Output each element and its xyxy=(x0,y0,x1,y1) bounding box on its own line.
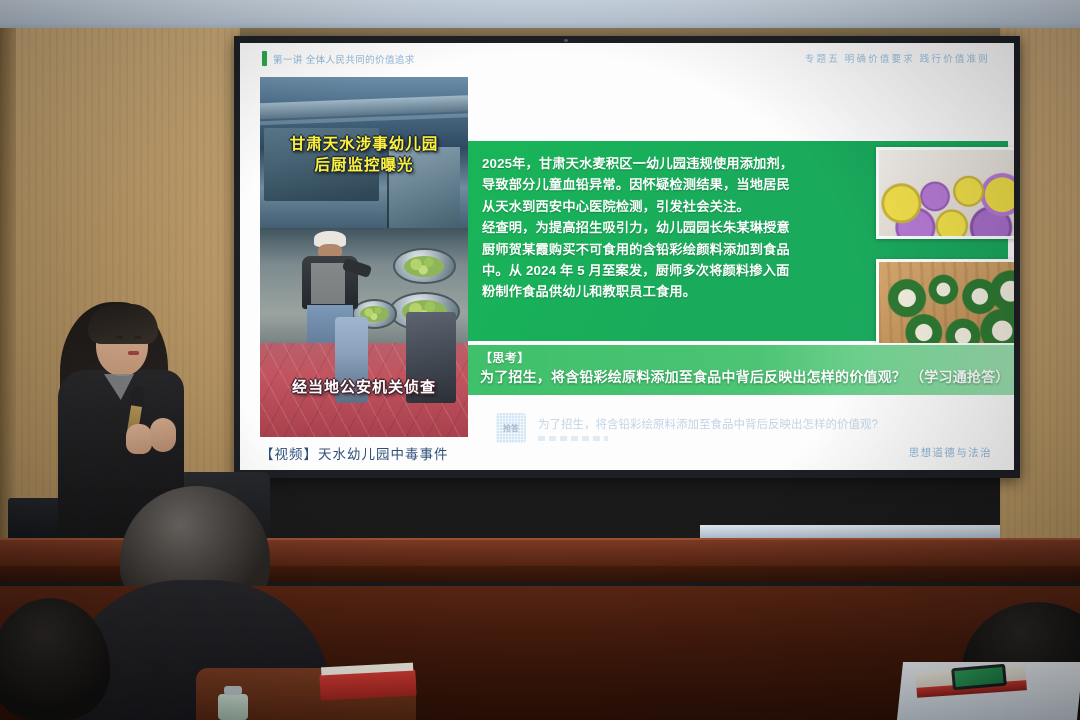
presentation-slide: 第一讲 全体人民共同的价值追求 专题五 明确价值要求 践行价值准则 xyxy=(240,43,1014,470)
presenter-hand xyxy=(150,418,176,452)
presenter-hair-front xyxy=(88,304,158,344)
answer-grab-badge: 抢答 xyxy=(496,413,526,443)
answer-grab-subline xyxy=(538,436,608,441)
photo-green-white-pastries xyxy=(876,259,1014,351)
video-caption-top-line1: 甘肃天水涉事幼儿园 xyxy=(260,135,468,156)
topic-title: 专题五 明确价值要求 践行价值准则 xyxy=(805,51,990,65)
slide-header-left: 第一讲 全体人民共同的价值追求 xyxy=(262,51,415,66)
thermos-bottle xyxy=(218,694,248,720)
projection-screen-bezel: 第一讲 全体人民共同的价值追求 专题五 明确价值要求 践行价值准则 xyxy=(234,36,1020,478)
discussion-question-bar: 【思考】 为了招生，将含铅彩绘原料添加至食品中背后反映出怎样的价值观？ （学习通… xyxy=(468,343,1014,395)
question-tag: 【思考】 xyxy=(480,349,1014,366)
question-suffix: （学习通抢答） xyxy=(910,369,1009,385)
video-player-frame[interactable]: 甘肃天水涉事幼儿园 后厨监控曝光 经当地公安机关侦查 xyxy=(260,77,468,437)
accent-bar-icon xyxy=(262,51,267,66)
presenter-hand-holding-mic xyxy=(126,424,152,454)
presenter-eye xyxy=(134,336,141,339)
question-text: 为了招生，将含铅彩绘原料添加至食品中背后反映出怎样的价值观？ xyxy=(480,369,906,385)
answer-grab-body: 为了招生，将含铅彩绘原料添加至食品中背后反映出怎样的价值观? xyxy=(538,413,878,441)
video-caption-bottom: 经当地公安机关侦查 xyxy=(260,376,468,397)
lecture-hall-photo: 第一讲 全体人民共同的价值追求 专题五 明确价值要求 践行价值准则 xyxy=(0,0,1080,720)
red-book-left xyxy=(319,670,416,701)
slide-header: 第一讲 全体人民共同的价值追求 专题五 明确价值要求 践行价值准则 xyxy=(240,43,1014,73)
photo-colored-swirl-buns xyxy=(876,147,1014,239)
back-desk-surface xyxy=(700,525,1000,539)
slide-footer: 思想道德与法治 xyxy=(909,445,992,460)
presenter-eye xyxy=(116,336,123,339)
video-label: 【视频】天水幼儿园中毒事件 xyxy=(260,443,500,463)
case-line-5: 厨师贺某霞购买不可食用的含铅彩绘颜料添加到食品 xyxy=(482,239,994,260)
steel-pot xyxy=(393,248,455,285)
chapter-title: 第一讲 全体人民共同的价值追求 xyxy=(273,52,415,66)
question-text-row: 为了招生，将含铅彩绘原料添加至食品中背后反映出怎样的价值观？ （学习通抢答） xyxy=(480,367,1014,387)
presenter-mouth xyxy=(128,351,139,355)
video-caption-top: 甘肃天水涉事幼儿园 后厨监控曝光 xyxy=(260,135,468,177)
smartphone xyxy=(951,664,1007,691)
video-caption-top-line2: 后厨监控曝光 xyxy=(260,156,468,177)
answer-grab-text: 为了招生，将含铅彩绘原料添加至食品中背后反映出怎样的价值观? xyxy=(538,416,878,432)
